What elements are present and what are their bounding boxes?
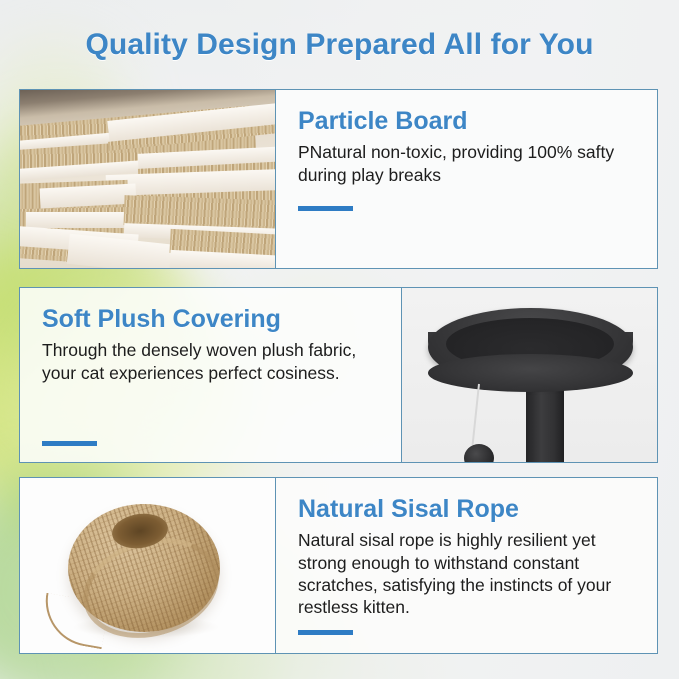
panel-body-text: PNatural non-toxic, providing 100% safty…: [298, 141, 635, 186]
feature-panel-particle-board: Particle Board PNatural non-toxic, provi…: [19, 89, 658, 269]
accent-rule: [298, 206, 353, 211]
feature-panel-natural-sisal-rope: Natural Sisal Rope Natural sisal rope is…: [19, 477, 658, 654]
soft-plush-copy: Soft Plush Covering Through the densely …: [20, 288, 401, 462]
panel-headline: Soft Plush Covering: [42, 306, 379, 332]
particle-board-photo: [20, 90, 276, 268]
panel-body-text: Natural sisal rope is highly resilient y…: [298, 529, 635, 619]
panel-headline: Natural Sisal Rope: [298, 496, 635, 522]
panel-headline: Particle Board: [298, 108, 635, 134]
sisal-rope-copy: Natural Sisal Rope Natural sisal rope is…: [276, 478, 657, 653]
perch-post: [526, 380, 564, 462]
accent-rule: [298, 630, 353, 635]
page-title: Quality Design Prepared All for You: [0, 28, 679, 62]
accent-rule: [42, 441, 97, 446]
pom-pom-string: [472, 384, 480, 446]
perch-bowl-front: [428, 354, 633, 392]
feature-panel-soft-plush-covering: Soft Plush Covering Through the densely …: [19, 287, 658, 463]
particle-board-copy: Particle Board PNatural non-toxic, provi…: [276, 90, 657, 268]
sisal-rope-photo: [20, 478, 276, 653]
pom-pom-ball: [464, 444, 494, 462]
panel-body-text: Through the densely woven plush fabric, …: [42, 339, 379, 384]
rope-illustration: [20, 478, 275, 653]
cat-perch-illustration: [402, 288, 657, 462]
plush-cat-perch-photo: [401, 288, 657, 462]
particle-board-illustration: [20, 90, 275, 268]
